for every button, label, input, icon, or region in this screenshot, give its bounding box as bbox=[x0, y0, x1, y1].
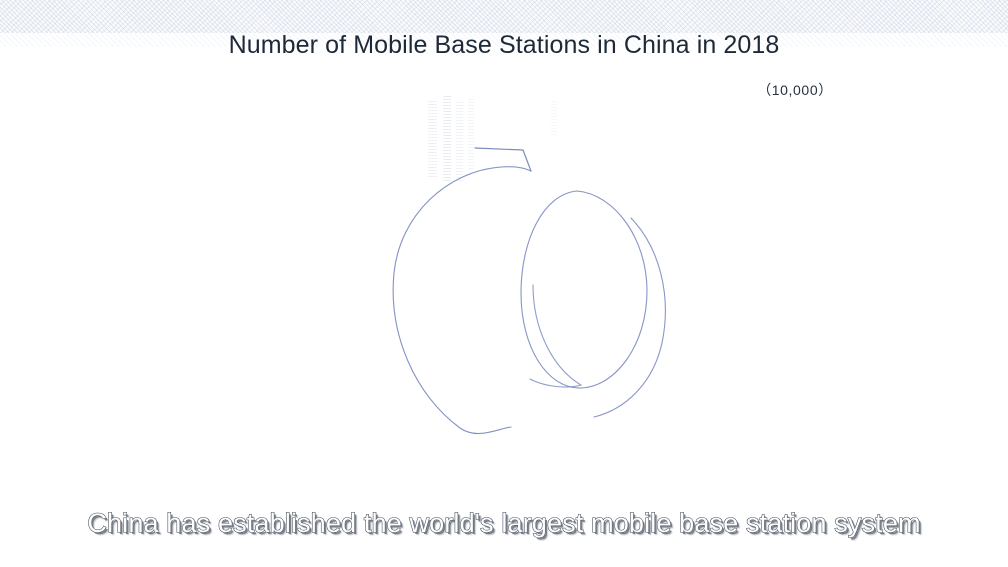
outer-pie-outline bbox=[393, 167, 511, 434]
caption-container: China has established the world's larges… bbox=[0, 508, 1008, 539]
outer-right-arc bbox=[594, 218, 665, 417]
slide-caption: China has established the world's larges… bbox=[87, 508, 920, 539]
slide-canvas: Number of Mobile Base Stations in China … bbox=[0, 0, 1008, 567]
chart-unit-label: （10,000） bbox=[740, 80, 850, 100]
pie-chart-svg bbox=[355, 95, 700, 455]
inner-slice-outline bbox=[521, 191, 647, 388]
top-texture-band bbox=[0, 0, 1008, 33]
slide-title: Number of Mobile Base Stations in China … bbox=[0, 31, 1008, 60]
outer-pie-outline-top bbox=[501, 167, 531, 171]
pie-chart bbox=[355, 95, 700, 455]
inner-lower-arc bbox=[530, 285, 581, 387]
